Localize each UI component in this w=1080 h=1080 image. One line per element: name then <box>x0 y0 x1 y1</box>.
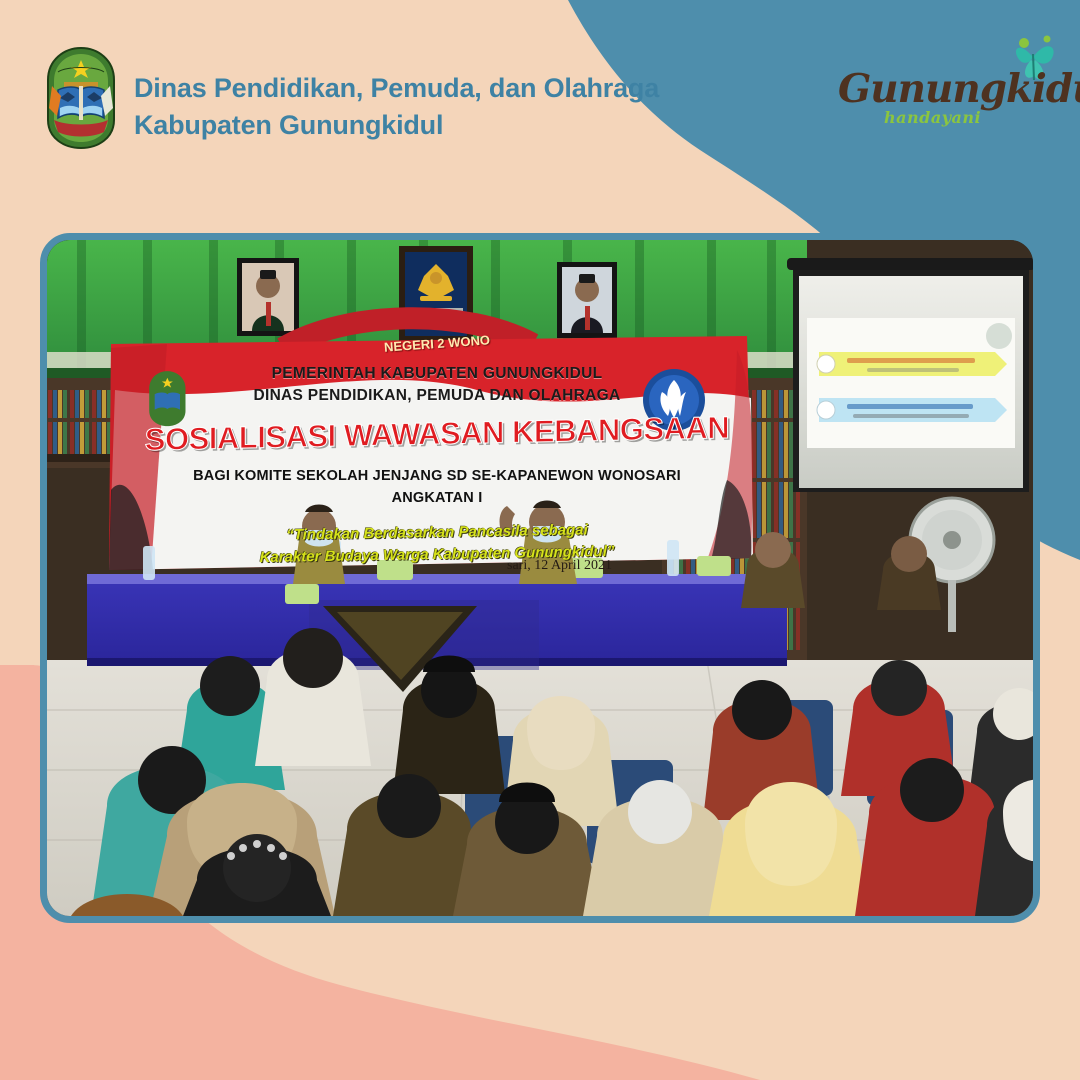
gunungkidul-regency-crest-icon <box>44 46 118 150</box>
event-photo-illustration <box>47 240 1033 916</box>
tourism-tagline: handayani <box>884 108 981 127</box>
tourism-wordmark: Gunungkidul <box>838 66 1080 112</box>
page-title: Dinas Pendidikan, Pemuda, dan Olahraga K… <box>134 70 659 145</box>
poster-footer: @dikpora_gk pendidikan.gunungkidulkab.go… <box>0 930 1080 1080</box>
poster-canvas: Dinas Pendidikan, Pemuda, dan Olahraga K… <box>0 0 1080 1080</box>
event-photo: NEGERI 2 WONO PEMERINTAH KABUPATEN GUNUN… <box>47 240 1033 916</box>
event-photo-card: NEGERI 2 WONO PEMERINTAH KABUPATEN GUNUN… <box>40 233 1040 923</box>
poster-header: Dinas Pendidikan, Pemuda, dan Olahraga K… <box>0 0 1080 200</box>
gunungkidul-tourism-logo: Gunungkidul handayani <box>832 26 1062 136</box>
